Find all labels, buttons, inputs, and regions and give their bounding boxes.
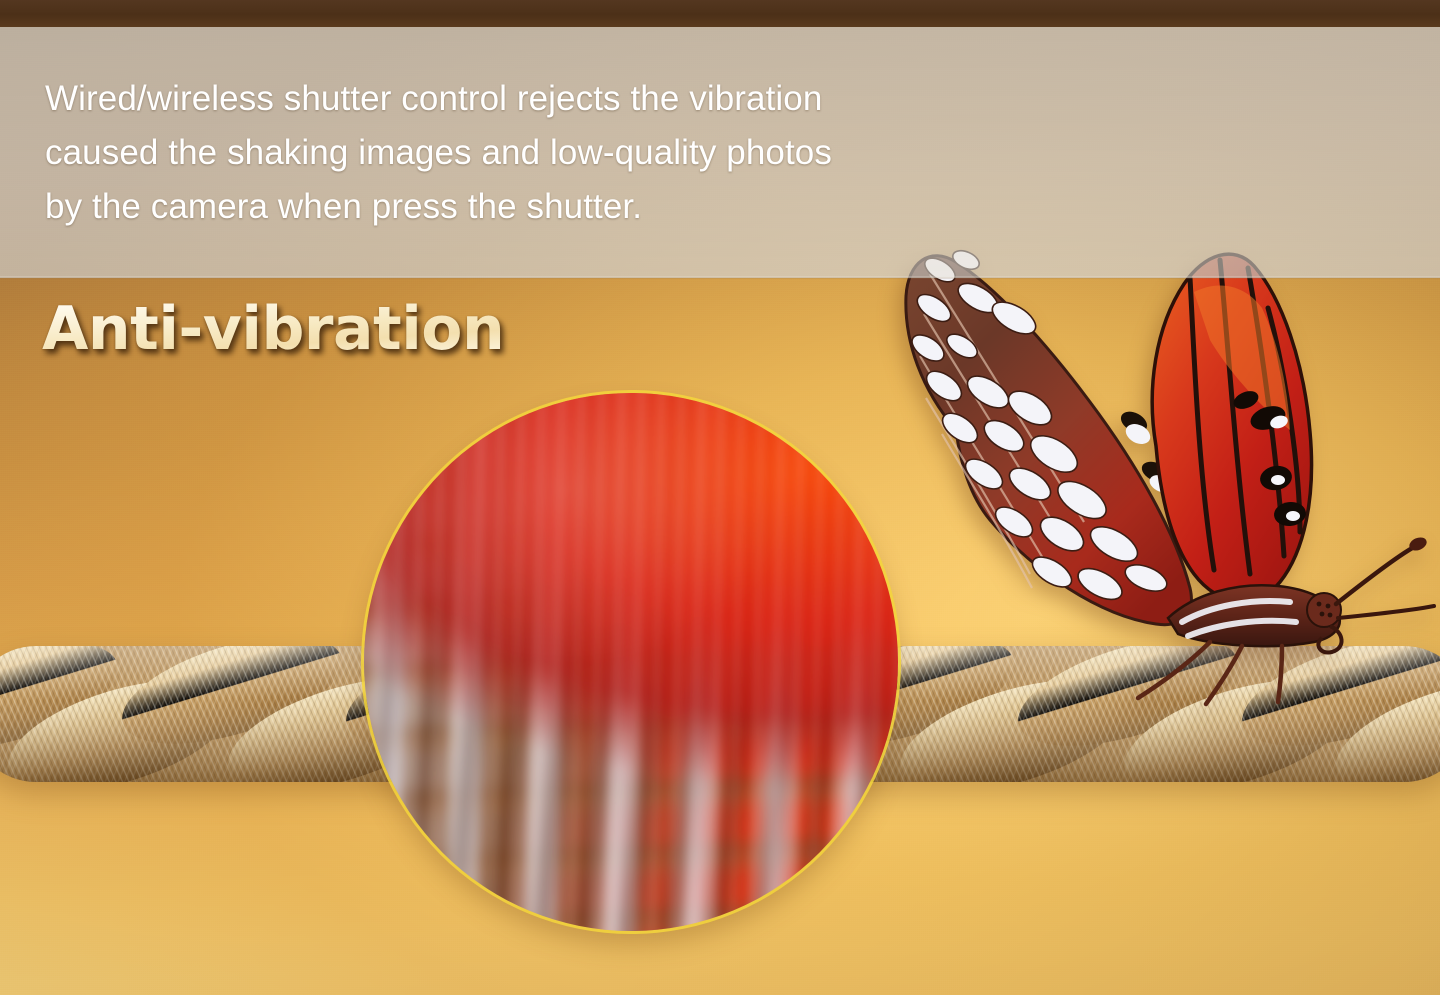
butterfly-icon xyxy=(838,222,1440,722)
top-strip xyxy=(0,0,1440,27)
slide-canvas: Wired/wireless shutter control rejects t… xyxy=(0,0,1440,995)
caption-text: Wired/wireless shutter control rejects t… xyxy=(45,72,1075,234)
magnifier-bubble-icon xyxy=(364,393,898,931)
page-title: Anti-vibration xyxy=(42,293,504,365)
motion-blur-streaks xyxy=(364,393,898,931)
caption-scrim-edge xyxy=(0,276,1440,279)
